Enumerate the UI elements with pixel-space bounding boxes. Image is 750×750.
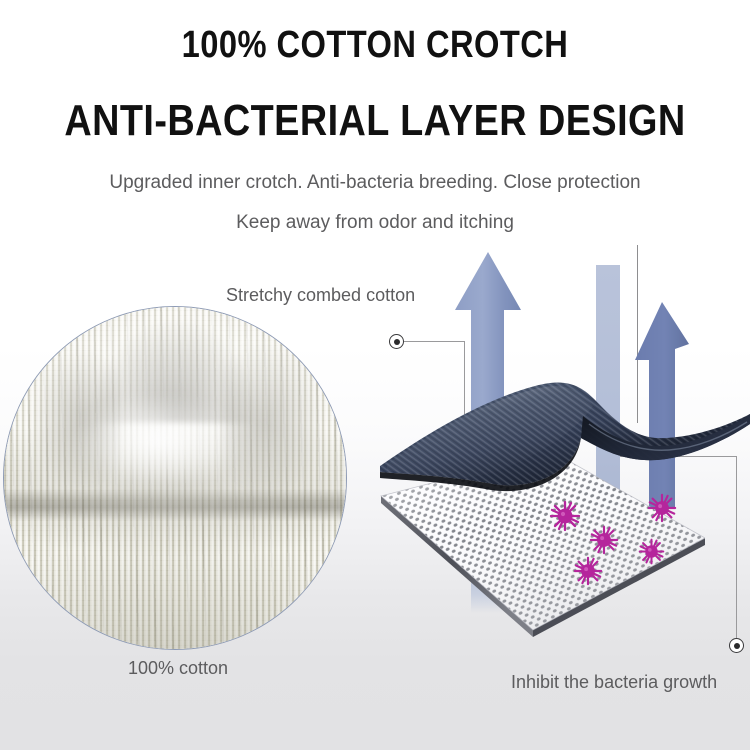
label-stretchy-combed-cotton: Stretchy combed cotton	[226, 285, 415, 306]
subtitle-line-1: Upgraded inner crotch. Anti-bacteria bre…	[0, 172, 750, 194]
callout-marker-top	[389, 334, 404, 349]
fabric-highlight	[78, 395, 237, 485]
fabric-layer-diagram	[375, 380, 750, 640]
cotton-fabric-texture	[3, 306, 347, 650]
callout-marker-bottom	[729, 638, 744, 653]
cotton-fabric-photo	[3, 306, 347, 650]
label-inhibit-bacteria-growth: Inhibit the bacteria growth	[511, 672, 717, 693]
label-hundred-percent-cotton: 100% cotton	[128, 658, 228, 679]
infographic-canvas: 100% COTTON CROTCH ANTI-BACTERIAL LAYER …	[0, 0, 750, 750]
outer-combed-cotton-layer	[375, 380, 750, 500]
subtitle-line-2: Keep away from odor and itching	[0, 212, 750, 234]
page-title-secondary: ANTI-BACTERIAL LAYER DESIGN	[53, 96, 698, 146]
page-title-primary: 100% COTTON CROTCH	[53, 24, 698, 67]
fabric-fold-shadow-right	[223, 340, 327, 499]
